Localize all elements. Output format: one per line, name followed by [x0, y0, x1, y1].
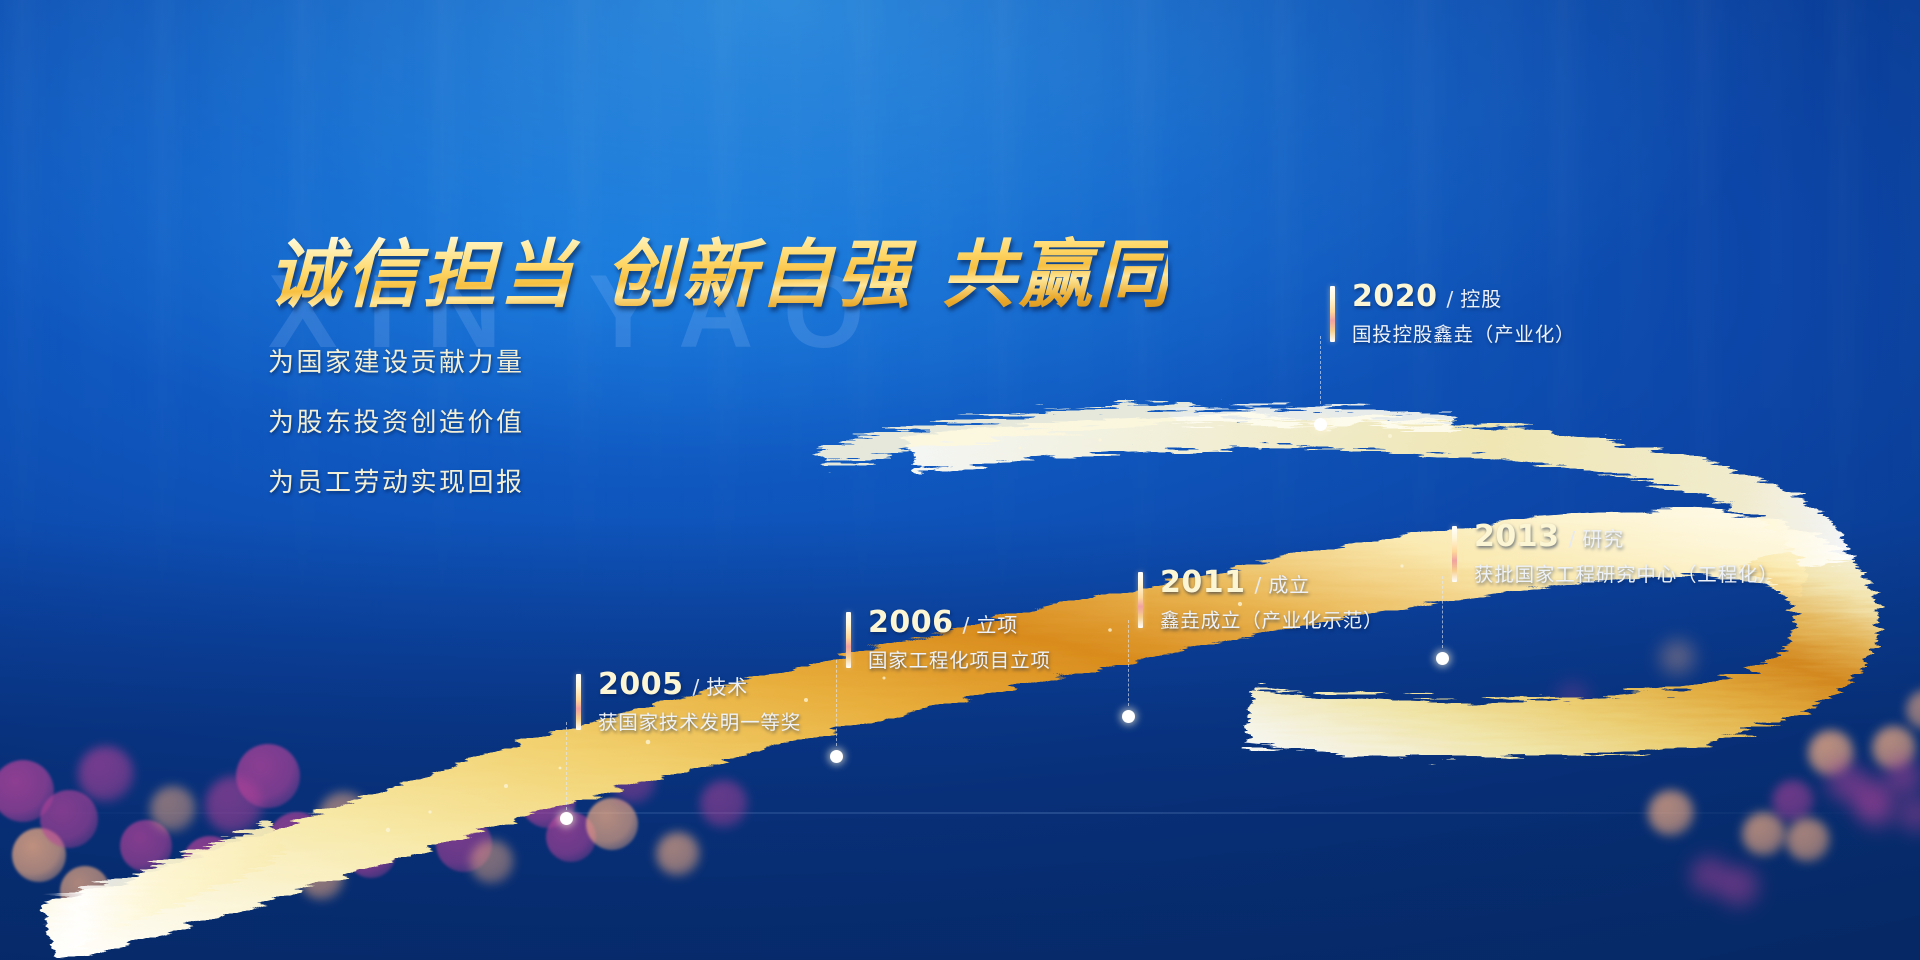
- milestone-separator: /: [963, 613, 970, 637]
- milestone-text: 2006/立项国家工程化项目立项: [868, 608, 1051, 671]
- bokeh-light: [1772, 780, 1814, 822]
- bokeh-light: [470, 840, 514, 884]
- milestone-dot[interactable]: [1314, 418, 1327, 431]
- bokeh-light: [182, 836, 238, 892]
- milestone-text: 2005/技术获国家技术发明一等奖: [598, 670, 801, 733]
- milestone-text: 2011/成立鑫垚成立（产业化示范）: [1160, 568, 1383, 631]
- milestone-description: 国投控股鑫垚（产业化）: [1352, 325, 1575, 345]
- milestone-separator: /: [693, 675, 700, 699]
- milestone-year: 2020: [1352, 279, 1438, 314]
- milestone-year: 2013: [1474, 519, 1560, 554]
- milestone-tag: 成立: [1268, 573, 1310, 597]
- page-title: 诚信担当 创新自强 共赢同享: [268, 236, 1168, 314]
- banner-canvas: XIN YAO 诚信担当 创新自强 共赢同享 为国家建设贡献力量 为股东投资创造…: [0, 0, 1920, 960]
- milestone-connector-line: [566, 722, 567, 810]
- bokeh-light: [1660, 640, 1696, 676]
- milestone-heading: 2005/技术: [598, 670, 801, 700]
- milestone-accent-bar: [1452, 526, 1457, 582]
- milestone-heading: 2011/成立: [1160, 568, 1383, 598]
- bokeh-light: [78, 746, 134, 802]
- milestone-description: 获批国家工程研究中心（工程化）: [1474, 565, 1779, 585]
- milestone-separator: /: [1447, 287, 1454, 311]
- milestone-dot[interactable]: [830, 750, 843, 763]
- bokeh-light: [700, 780, 748, 828]
- milestone-separator: /: [1569, 527, 1576, 551]
- bokeh-light: [586, 798, 638, 850]
- milestone-year: 2005: [598, 667, 684, 702]
- milestone-dot[interactable]: [1122, 710, 1135, 723]
- bokeh-light: [1884, 758, 1920, 798]
- bokeh-light: [656, 832, 700, 876]
- milestone-dot[interactable]: [1436, 652, 1449, 665]
- bokeh-light: [1786, 818, 1830, 862]
- bokeh-light: [612, 760, 656, 804]
- bokeh-light: [60, 866, 110, 916]
- milestone-tag: 研究: [1582, 527, 1624, 551]
- milestone-accent-bar: [576, 674, 581, 730]
- subline-list: 为国家建设贡献力量 为股东投资创造价值 为员工劳动实现回报: [268, 350, 1168, 496]
- headline-block: XIN YAO 诚信担当 创新自强 共赢同享 为国家建设贡献力量 为股东投资创造…: [268, 236, 1168, 496]
- bokeh-light: [1718, 866, 1760, 908]
- milestone-description: 鑫垚成立（产业化示范）: [1160, 611, 1383, 631]
- milestone-dot[interactable]: [560, 812, 573, 825]
- subline-item: 为员工劳动实现回报: [268, 470, 1168, 496]
- milestone-description: 获国家技术发明一等奖: [598, 713, 801, 733]
- bokeh-light: [150, 786, 196, 832]
- milestone-connector-line: [1128, 620, 1129, 706]
- bokeh-light: [1742, 812, 1786, 856]
- milestone-accent-bar: [1138, 572, 1143, 628]
- bokeh-light: [300, 856, 344, 900]
- milestone-heading: 2020/控股: [1352, 282, 1575, 312]
- bokeh-light: [40, 790, 98, 848]
- milestone-connector-line: [836, 660, 837, 746]
- milestone-description: 国家工程化项目立项: [868, 651, 1051, 671]
- bokeh-light: [1556, 682, 1590, 716]
- milestone-year: 2011: [1160, 565, 1246, 600]
- milestone-accent-bar: [846, 612, 851, 668]
- bokeh-light: [236, 744, 300, 808]
- milestone-heading: 2013/研究: [1474, 522, 1779, 552]
- milestone-text: 2020/控股国投控股鑫垚（产业化）: [1352, 282, 1575, 345]
- milestone-year: 2006: [868, 605, 954, 640]
- milestone-connector-line: [1320, 336, 1321, 414]
- milestone-connector-line: [1442, 576, 1443, 648]
- milestone-heading: 2006/立项: [868, 608, 1051, 638]
- milestone-tag: 立项: [976, 613, 1018, 637]
- subline-item: 为国家建设贡献力量: [268, 350, 1168, 376]
- milestone-tag: 控股: [1460, 287, 1502, 311]
- milestone-separator: /: [1255, 573, 1262, 597]
- milestone-tag: 技术: [706, 675, 748, 699]
- milestone-accent-bar: [1330, 286, 1335, 342]
- bokeh-light: [1858, 790, 1898, 830]
- milestone-text: 2013/研究获批国家工程研究中心（工程化）: [1474, 522, 1779, 585]
- bokeh-light: [1648, 790, 1694, 836]
- subline-item: 为股东投资创造价值: [268, 410, 1168, 436]
